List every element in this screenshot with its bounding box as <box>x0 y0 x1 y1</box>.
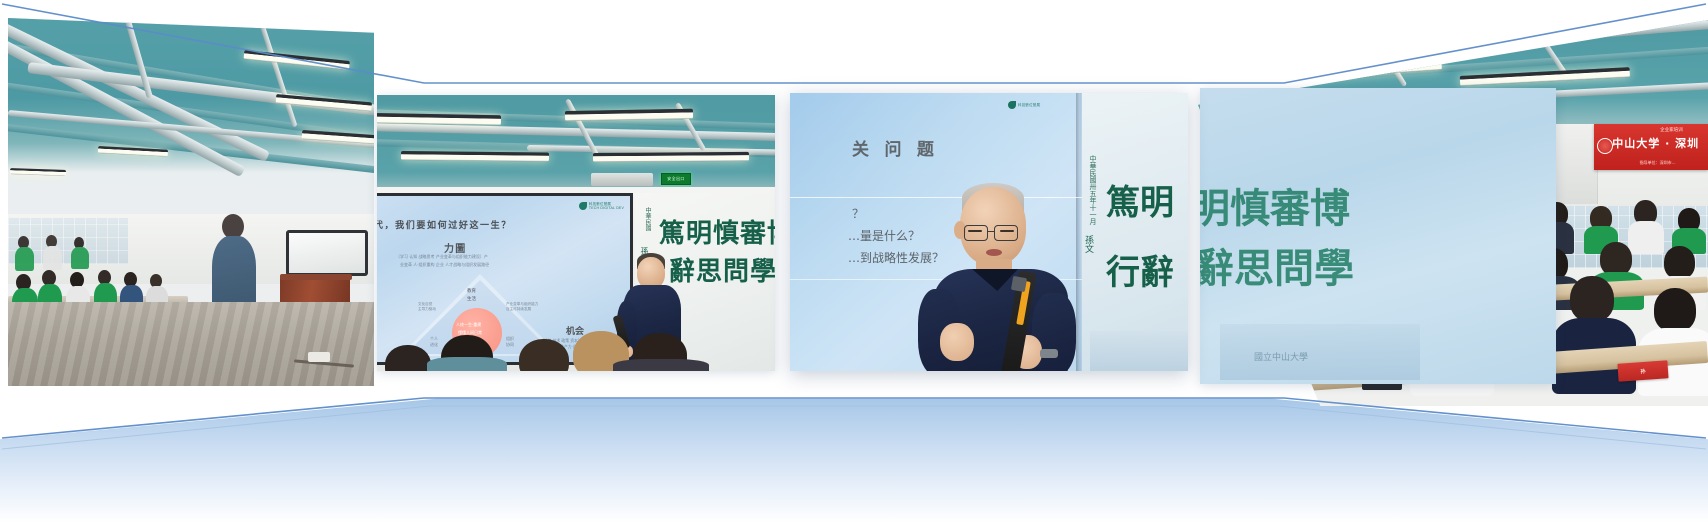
exit-sign: 安全出口 <box>661 173 691 185</box>
logo-mark-icon <box>579 202 587 210</box>
whiteboard <box>286 230 368 276</box>
university-seal-icon <box>1597 138 1613 154</box>
classroom-wide-photo <box>8 18 374 386</box>
slide-title-left: …的时代，我们要如何过好这一生？ <box>377 218 512 231</box>
carousel-slide-far-left[interactable] <box>8 18 374 386</box>
carousel-slide-right[interactable]: 明慎審博 辭思問學 國立中山大學 <box>1200 88 1556 384</box>
slide-left-note: 文化自觉主导力驱动 <box>418 302 436 312</box>
logo-text: 科技數位發展TECH DIGITAL DEV <box>589 202 624 211</box>
slide-note-2: 业变革 人·组织重构 企业 人才战略与组织发展路径 <box>400 262 489 268</box>
eyeglasses-icon <box>964 225 988 241</box>
logo-text: 科技數位發展 <box>1018 103 1040 107</box>
university-banner: 企业家培训 中山大学 · 深圳 指导单位：深圳市… <box>1594 124 1708 170</box>
slide-node-top: 教育 <box>467 288 476 294</box>
calligraphy-wall-center <box>1082 93 1188 371</box>
center-slide-bullet-1: …量是什么？ <box>848 227 920 244</box>
banner-bottom-text: 指导单位：深圳市… <box>1640 160 1676 166</box>
center-slide-bullet-0: ？ <box>852 205 864 222</box>
right-calligraphy-line-1: 明慎審博 <box>1200 176 1350 234</box>
center-slide-title: 关 问 题 <box>852 135 939 160</box>
logo-mark-icon <box>1008 101 1016 109</box>
carousel-floor-gradient <box>0 388 1708 523</box>
carousel-stage[interactable]: 安全出口 科技數位發展TECH DIGITAL DEV …的时代，我们要如何过好… <box>0 0 1708 523</box>
calligraphy-line-1: 篤明慎審博 <box>659 213 775 250</box>
gesturing-hand <box>940 323 974 361</box>
center-speaker-figure <box>916 185 1096 371</box>
center-calligraphy-line-2: 行辭 <box>1106 245 1174 294</box>
slide-node-top2: 生活 <box>467 296 476 302</box>
slide-logo-icon: 科技數位發展TECH DIGITAL DEV <box>579 202 624 211</box>
center-calligraphy-line-1: 篤明 <box>1106 175 1174 224</box>
slide-right-note: 产业变革与组织能力自主可持续发展 <box>506 302 538 312</box>
calligraphy-side-text: 中華民國 <box>643 207 652 231</box>
calligraphy-closeup-photo: 明慎審博 辭思問學 國立中山大學 <box>1200 88 1556 384</box>
banner-main-text: 中山大学 · 深圳 <box>1612 135 1699 151</box>
eyeglasses-icon <box>994 225 1018 241</box>
right-calligraphy-footer: 國立中山大學 <box>1254 350 1308 363</box>
table-nameplate: 孙 <box>1617 360 1668 381</box>
slide-heading-liTu: 力圖 <box>444 240 466 255</box>
carousel-slide-left[interactable]: 安全出口 科技數位發展TECH DIGITAL DEV …的时代，我们要如何过好… <box>377 95 775 371</box>
nameplate-text: 孙 <box>1618 366 1668 376</box>
banner-top-text: 企业家培训 <box>1660 127 1683 133</box>
slide-note-1: 〔学习 认知 战略思考 产业变革与组织能力建设〕产 <box>396 254 488 260</box>
carousel-slide-center-active[interactable]: 科技數位發展 关 问 题 ？ …量是什么？ …到战略性发展？ 中華民國卅五年十一… <box>790 93 1188 371</box>
speaker-portrait-photo: 科技數位發展 关 问 题 ？ …量是什么？ …到战略性发展？ 中華民國卅五年十一… <box>790 93 1188 371</box>
lecturer-slide-photo: 安全出口 科技數位發展TECH DIGITAL DEV …的时代，我们要如何过好… <box>377 95 775 371</box>
center-slide-logo-icon: 科技數位發展 <box>1008 101 1040 109</box>
right-calligraphy-line-2: 辭思問學 <box>1200 236 1354 294</box>
